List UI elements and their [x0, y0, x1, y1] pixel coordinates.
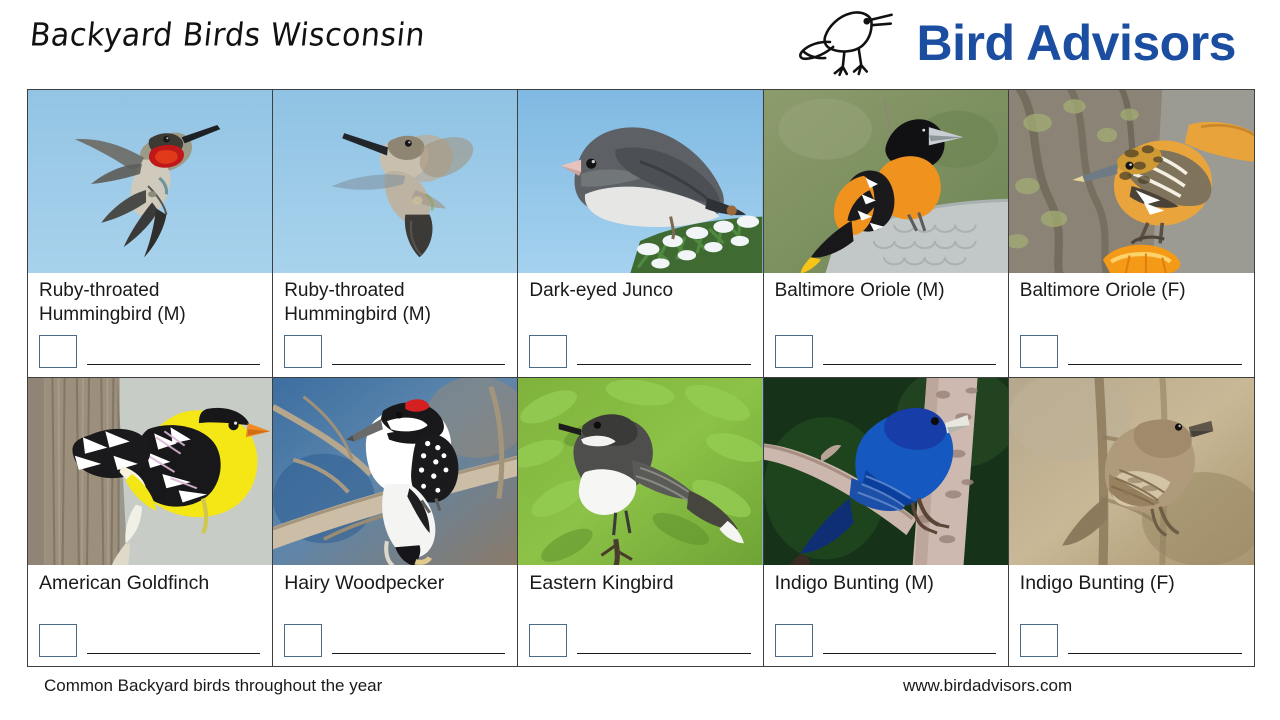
bird-caption: Indigo Bunting (F)	[1009, 565, 1254, 666]
footer-website[interactable]: www.birdadvisors.com	[903, 676, 1072, 696]
page-title: Backyard Birds Wisconsin	[28, 17, 427, 54]
write-in-line[interactable]	[577, 653, 750, 654]
bird-caption: Baltimore Oriole (F)	[1009, 273, 1254, 377]
bird-photo-hairy-woodpecker	[273, 378, 517, 565]
bird-name: Dark-eyed Junco	[529, 279, 752, 303]
write-in-line[interactable]	[823, 364, 996, 365]
mark-row	[775, 335, 998, 377]
bird-photo-dark-eyed-junco	[518, 90, 762, 273]
bird-line-art-icon	[798, 6, 902, 80]
mark-row	[284, 335, 507, 377]
write-in-line[interactable]	[332, 364, 505, 365]
bird-name: American Goldfinch	[39, 571, 262, 595]
mark-row	[775, 624, 998, 666]
seen-checkbox[interactable]	[529, 624, 567, 657]
bird-photo-baltimore-oriole-male	[764, 90, 1008, 273]
bird-name: Eastern Kingbird	[529, 571, 752, 595]
page-footer: Common Backyard birds throughout the yea…	[0, 668, 1280, 720]
seen-checkbox[interactable]	[529, 335, 567, 368]
bird-photo-ruby-throated-hummingbird-male	[28, 90, 272, 273]
footer-note: Common Backyard birds throughout the yea…	[44, 676, 382, 696]
bird-checklist-grid: Ruby-throated Hummingbird (M)	[27, 89, 1255, 667]
seen-checkbox[interactable]	[1020, 335, 1058, 368]
bird-caption: Dark-eyed Junco	[518, 273, 762, 377]
mark-row	[1020, 624, 1244, 666]
bird-card[interactable]: American Goldfinch	[28, 378, 273, 666]
bird-card[interactable]: Eastern Kingbird	[518, 378, 763, 666]
bird-photo-american-goldfinch	[28, 378, 272, 565]
bird-card[interactable]: Ruby-throated Hummingbird (M)	[28, 90, 273, 378]
write-in-line[interactable]	[1068, 364, 1242, 365]
bird-card[interactable]: Dark-eyed Junco	[518, 90, 763, 378]
mark-row	[284, 624, 507, 666]
bird-name: Baltimore Oriole (F)	[1020, 279, 1244, 303]
write-in-line[interactable]	[87, 653, 260, 654]
bird-name: Indigo Bunting (M)	[775, 571, 998, 595]
checklist-page: Backyard Birds Wisconsin	[0, 0, 1280, 720]
mark-row	[529, 335, 752, 377]
seen-checkbox[interactable]	[39, 335, 77, 368]
mark-row	[529, 624, 752, 666]
write-in-line[interactable]	[87, 364, 260, 365]
bird-photo-indigo-bunting-female	[1009, 378, 1254, 565]
bird-card[interactable]: Baltimore Oriole (M)	[764, 90, 1009, 378]
brand-name: Bird Advisors	[916, 18, 1236, 68]
bird-name: Ruby-throated Hummingbird (M)	[39, 279, 262, 327]
bird-photo-baltimore-oriole-female	[1009, 90, 1254, 273]
seen-checkbox[interactable]	[39, 624, 77, 657]
bird-name: Baltimore Oriole (M)	[775, 279, 998, 303]
seen-checkbox[interactable]	[1020, 624, 1058, 657]
bird-card[interactable]: Indigo Bunting (F)	[1009, 378, 1254, 666]
bird-caption: Ruby-throated Hummingbird (M)	[273, 273, 517, 377]
bird-caption: Hairy Woodpecker	[273, 565, 517, 666]
bird-name: Ruby-throated Hummingbird (M)	[284, 279, 507, 327]
seen-checkbox[interactable]	[775, 335, 813, 368]
bird-name: Hairy Woodpecker	[284, 571, 507, 595]
bird-caption: Baltimore Oriole (M)	[764, 273, 1008, 377]
bird-caption: Eastern Kingbird	[518, 565, 762, 666]
seen-checkbox[interactable]	[284, 335, 322, 368]
write-in-line[interactable]	[823, 653, 996, 654]
mark-row	[1020, 335, 1244, 377]
bird-photo-indigo-bunting-male	[764, 378, 1008, 565]
bird-caption: Indigo Bunting (M)	[764, 565, 1008, 666]
seen-checkbox[interactable]	[775, 624, 813, 657]
bird-card[interactable]: Indigo Bunting (M)	[764, 378, 1009, 666]
write-in-line[interactable]	[1068, 653, 1242, 654]
bird-card[interactable]: Baltimore Oriole (F)	[1009, 90, 1254, 378]
bird-photo-eastern-kingbird	[518, 378, 762, 565]
page-header: Backyard Birds Wisconsin	[0, 0, 1280, 88]
write-in-line[interactable]	[577, 364, 750, 365]
seen-checkbox[interactable]	[284, 624, 322, 657]
mark-row	[39, 624, 262, 666]
bird-photo-ruby-throated-hummingbird-female	[273, 90, 517, 273]
bird-caption: Ruby-throated Hummingbird (M)	[28, 273, 272, 377]
bird-card[interactable]: Hairy Woodpecker	[273, 378, 518, 666]
write-in-line[interactable]	[332, 653, 505, 654]
bird-name: Indigo Bunting (F)	[1020, 571, 1244, 595]
mark-row	[39, 335, 262, 377]
bird-caption: American Goldfinch	[28, 565, 272, 666]
bird-card[interactable]: Ruby-throated Hummingbird (M)	[273, 90, 518, 378]
brand-logo: Bird Advisors	[798, 6, 1236, 80]
